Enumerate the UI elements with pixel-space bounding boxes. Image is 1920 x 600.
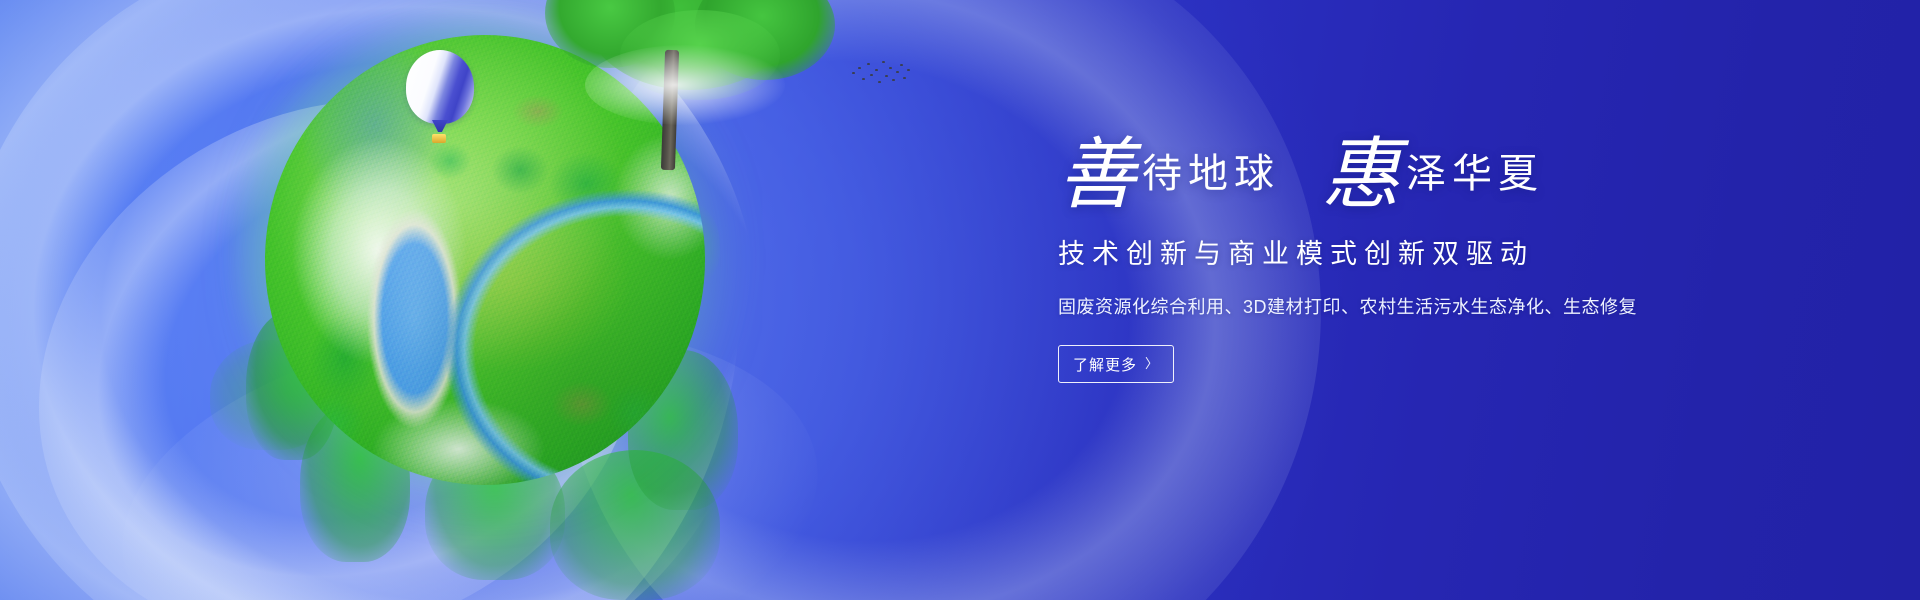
hot-air-balloon-icon xyxy=(398,50,488,150)
balloon-envelope xyxy=(406,50,474,124)
page-description: 固废资源化综合利用、3D建材打印、农村生活污水生态净化、生态修复 xyxy=(1058,293,1758,319)
hero-banner: 善待地球惠泽华夏 技术创新与商业模式创新双驱动 固废资源化综合利用、3D建材打印… xyxy=(0,0,1920,600)
hero-copy: 善待地球惠泽华夏 技术创新与商业模式创新双驱动 固废资源化综合利用、3D建材打印… xyxy=(1058,136,1758,383)
headline-char-1: 善 xyxy=(1058,131,1136,218)
birds-flock-icon xyxy=(850,58,910,96)
globe-illustration xyxy=(150,10,750,590)
headline-char-2: 惠 xyxy=(1322,131,1400,218)
headline-word-1: 待地球 xyxy=(1142,151,1280,196)
mist-cloud xyxy=(585,45,785,125)
learn-more-label: 了解更多 xyxy=(1073,354,1137,375)
chevron-right-icon: 〉 xyxy=(1145,357,1159,370)
tree-icon xyxy=(525,0,825,180)
learn-more-button[interactable]: 了解更多 〉 xyxy=(1058,345,1174,383)
page-subtitle: 技术创新与商业模式创新双驱动 xyxy=(1058,232,1758,271)
balloon-neck xyxy=(432,120,448,132)
balloon-basket xyxy=(432,134,446,143)
page-title: 善待地球惠泽华夏 xyxy=(1058,136,1758,214)
headline-word-2: 泽华夏 xyxy=(1406,151,1544,196)
